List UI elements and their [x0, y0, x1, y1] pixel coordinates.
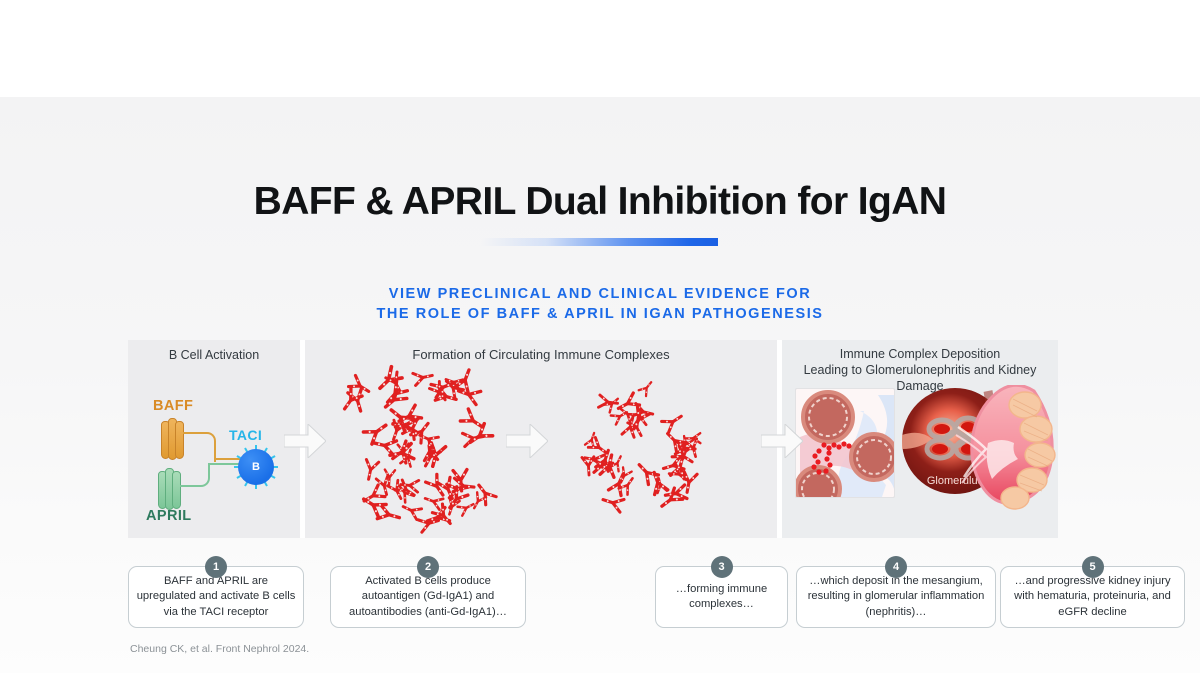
- caption-box-3[interactable]: 3 …forming immune complexes…: [655, 566, 788, 628]
- citation: Cheung CK, et al. Front Nephrol 2024.: [130, 643, 309, 655]
- top-white-band: [0, 0, 1200, 97]
- flow-arrow-1: [284, 424, 326, 458]
- april-connector: [180, 465, 210, 487]
- subtitle-link[interactable]: VIEW PRECLINICAL AND CLINICAL EVIDENCE F…: [0, 284, 1200, 324]
- flow-arrow-3: [761, 424, 803, 458]
- pathogenesis-diagram: B Cell Activation BAFF APRIL TACI: [128, 340, 1058, 538]
- caption-text-2: Activated B cells produce autoantigen (G…: [338, 574, 518, 620]
- panel1-heading: B Cell Activation: [128, 347, 300, 363]
- caption-badge-4: 4: [885, 556, 907, 578]
- april-protein-icon: [158, 468, 182, 510]
- taci-label: TACI: [229, 427, 262, 443]
- flow-arrow-2: [506, 424, 548, 458]
- title-accent-bar: [481, 238, 718, 246]
- mesangium-deposition-image: [796, 389, 897, 511]
- caption-text-5: …and progressive kidney injury with hema…: [1008, 574, 1177, 620]
- caption-badge-3: 3: [711, 556, 733, 578]
- panel3-heading-line-1: Immune Complex Deposition: [840, 347, 1001, 361]
- subtitle-line-2: THE ROLE OF BAFF & APRIL IN IGAN PATHOGE…: [0, 304, 1200, 324]
- baff-connector: [183, 432, 216, 462]
- caption-badge-2: 2: [417, 556, 439, 578]
- page-root: BAFF & APRIL Dual Inhibition for IgAN VI…: [0, 0, 1200, 673]
- caption-box-4[interactable]: 4 …which deposit in the mesangium, resul…: [796, 566, 996, 628]
- b-cell-icon: B: [234, 445, 278, 489]
- b-cell-label: B: [238, 449, 274, 485]
- panel-b-cell-activation: B Cell Activation BAFF APRIL TACI: [128, 340, 300, 538]
- panel-immune-deposition: Immune Complex Deposition Leading to Glo…: [782, 340, 1058, 538]
- caption-row: 1 BAFF and APRIL are upregulated and act…: [128, 566, 1060, 628]
- kidney-illustrations: Glomerulus: [782, 385, 1058, 535]
- caption-box-1[interactable]: 1 BAFF and APRIL are upregulated and act…: [128, 566, 304, 628]
- caption-box-2[interactable]: 2 Activated B cells produce autoantigen …: [330, 566, 526, 628]
- caption-badge-1: 1: [205, 556, 227, 578]
- april-label: APRIL: [146, 508, 192, 524]
- subtitle-line-1: VIEW PRECLINICAL AND CLINICAL EVIDENCE F…: [0, 284, 1200, 304]
- glomerulus-label: Glomerulus: [927, 475, 984, 487]
- caption-box-5[interactable]: 5 …and progressive kidney injury with he…: [1000, 566, 1185, 628]
- caption-badge-5: 5: [1082, 556, 1104, 578]
- caption-text-3: …forming immune complexes…: [663, 582, 780, 612]
- baff-label: BAFF: [153, 398, 193, 414]
- baff-protein-icon: [161, 418, 185, 460]
- caption-text-1: BAFF and APRIL are upregulated and activ…: [136, 574, 296, 620]
- caption-text-4: …which deposit in the mesangium, resulti…: [804, 574, 988, 620]
- page-title: BAFF & APRIL Dual Inhibition for IgAN: [0, 180, 1200, 224]
